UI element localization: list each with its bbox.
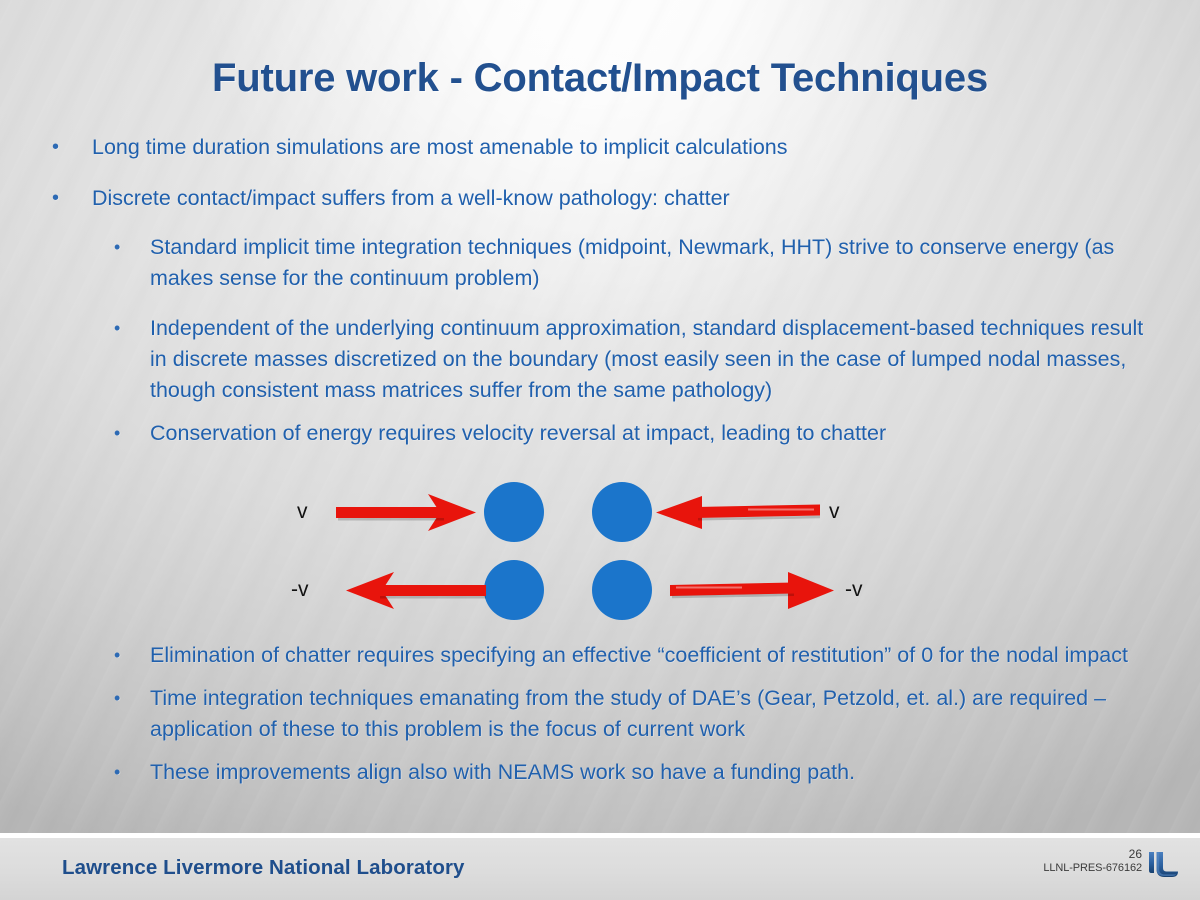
bullet-list-lower: • Elimination of chatter requires specif… <box>0 640 1200 788</box>
llnl-logo-icon <box>1148 851 1180 881</box>
arrow-left-top-right-icon <box>652 490 822 536</box>
bullet-marker: • <box>114 313 120 344</box>
bullet-item-5: • Conservation of energy requires veloci… <box>0 418 1200 449</box>
presentation-id: LLNL-PRES-676162 <box>1043 862 1142 875</box>
bullet-text: Independent of the underlying continuum … <box>150 313 1160 406</box>
bullet-marker: • <box>52 183 59 213</box>
bullet-item-6: • Elimination of chatter requires specif… <box>0 640 1200 671</box>
bullet-marker: • <box>114 232 120 263</box>
bullet-text: Long time duration simulations are most … <box>92 132 1152 162</box>
slide: Future work - Contact/Impact Techniques … <box>0 0 1200 900</box>
arrow-right-bottom-right-icon <box>668 568 838 614</box>
bullet-text: Standard implicit time integration techn… <box>150 232 1160 294</box>
bullet-marker: • <box>114 683 120 714</box>
impact-chatter-diagram: v v -v -v <box>0 482 1200 630</box>
bullet-item-2: • Discrete contact/impact suffers from a… <box>0 183 1200 213</box>
bullet-item-3: • Standard implicit time integration tec… <box>0 232 1200 294</box>
bullet-text: Discrete contact/impact suffers from a w… <box>92 183 1152 213</box>
node-bottom-right-circle <box>592 560 652 620</box>
velocity-label-bottom-left: -v <box>291 578 309 602</box>
bullet-marker: • <box>114 418 120 449</box>
bullet-item-1: • Long time duration simulations are mos… <box>0 132 1200 162</box>
node-bottom-left-circle <box>484 560 544 620</box>
bullet-text: Elimination of chatter requires specifyi… <box>150 640 1160 671</box>
arrow-right-top-left-icon <box>336 490 486 536</box>
footer-organization: Lawrence Livermore National Laboratory <box>62 856 465 880</box>
bullet-text: These improvements align also with NEAMS… <box>150 757 1160 788</box>
page-number: 26 <box>1043 848 1142 862</box>
bullet-marker: • <box>114 757 120 788</box>
bullet-item-4: • Independent of the underlying continuu… <box>0 313 1200 406</box>
footer-right-group: 26 LLNL-PRES-676162 <box>1043 848 1180 881</box>
page-title: Future work - Contact/Impact Techniques <box>0 56 1200 101</box>
bullet-marker: • <box>114 640 120 671</box>
bullet-marker: • <box>52 132 59 162</box>
bullet-item-7: • Time integration techniques emanating … <box>0 683 1200 745</box>
footer-bar: Lawrence Livermore National Laboratory 2… <box>0 838 1200 900</box>
node-top-left-circle <box>484 482 544 542</box>
velocity-label-top-right: v <box>829 500 840 524</box>
bullet-text: Time integration techniques emanating fr… <box>150 683 1160 745</box>
arrow-left-bottom-left-icon <box>336 568 486 614</box>
bullet-list: • Long time duration simulations are mos… <box>0 132 1200 449</box>
footer-meta: 26 LLNL-PRES-676162 <box>1043 848 1142 874</box>
bullet-item-8: • These improvements align also with NEA… <box>0 757 1200 788</box>
node-top-right-circle <box>592 482 652 542</box>
velocity-label-bottom-right: -v <box>845 578 863 602</box>
velocity-label-top-left: v <box>297 500 308 524</box>
bullet-text: Conservation of energy requires velocity… <box>150 418 1160 449</box>
